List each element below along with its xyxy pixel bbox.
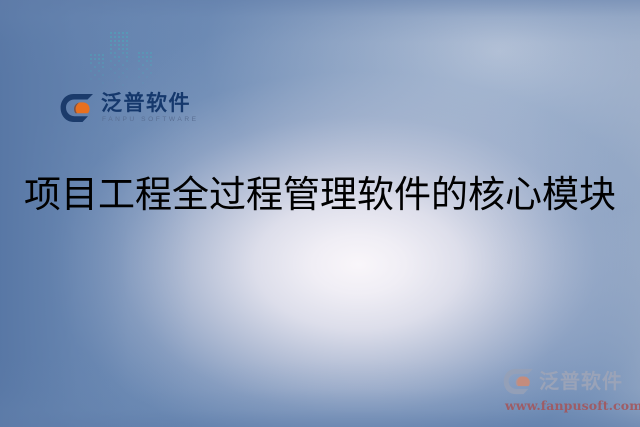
company-logo: 泛普软件 FANPU SOFTWARE — [60, 92, 199, 124]
pixel-cityscape-icon — [84, 24, 164, 96]
watermark-name-cn: 泛普软件 — [539, 371, 623, 391]
watermark-url: www.fanpusoft.com — [503, 398, 640, 413]
logo-name-en: FANPU SOFTWARE — [101, 117, 199, 124]
banner-image: 泛普软件 FANPU SOFTWARE 项目工程全过程管理软件的核心模块 泛普软… — [0, 0, 640, 427]
logo-name-cn: 泛普软件 — [101, 92, 199, 114]
page-title: 项目工程全过程管理软件的核心模块 — [0, 173, 640, 217]
site-watermark: 泛普软件 www.fanpusoft.com — [503, 366, 640, 418]
watermark-logo-row: 泛普软件 — [503, 366, 640, 396]
fanpu-swoosh-icon — [60, 93, 94, 123]
fanpu-swoosh-icon — [503, 368, 534, 395]
logo-text-block: 泛普软件 FANPU SOFTWARE — [101, 92, 199, 124]
